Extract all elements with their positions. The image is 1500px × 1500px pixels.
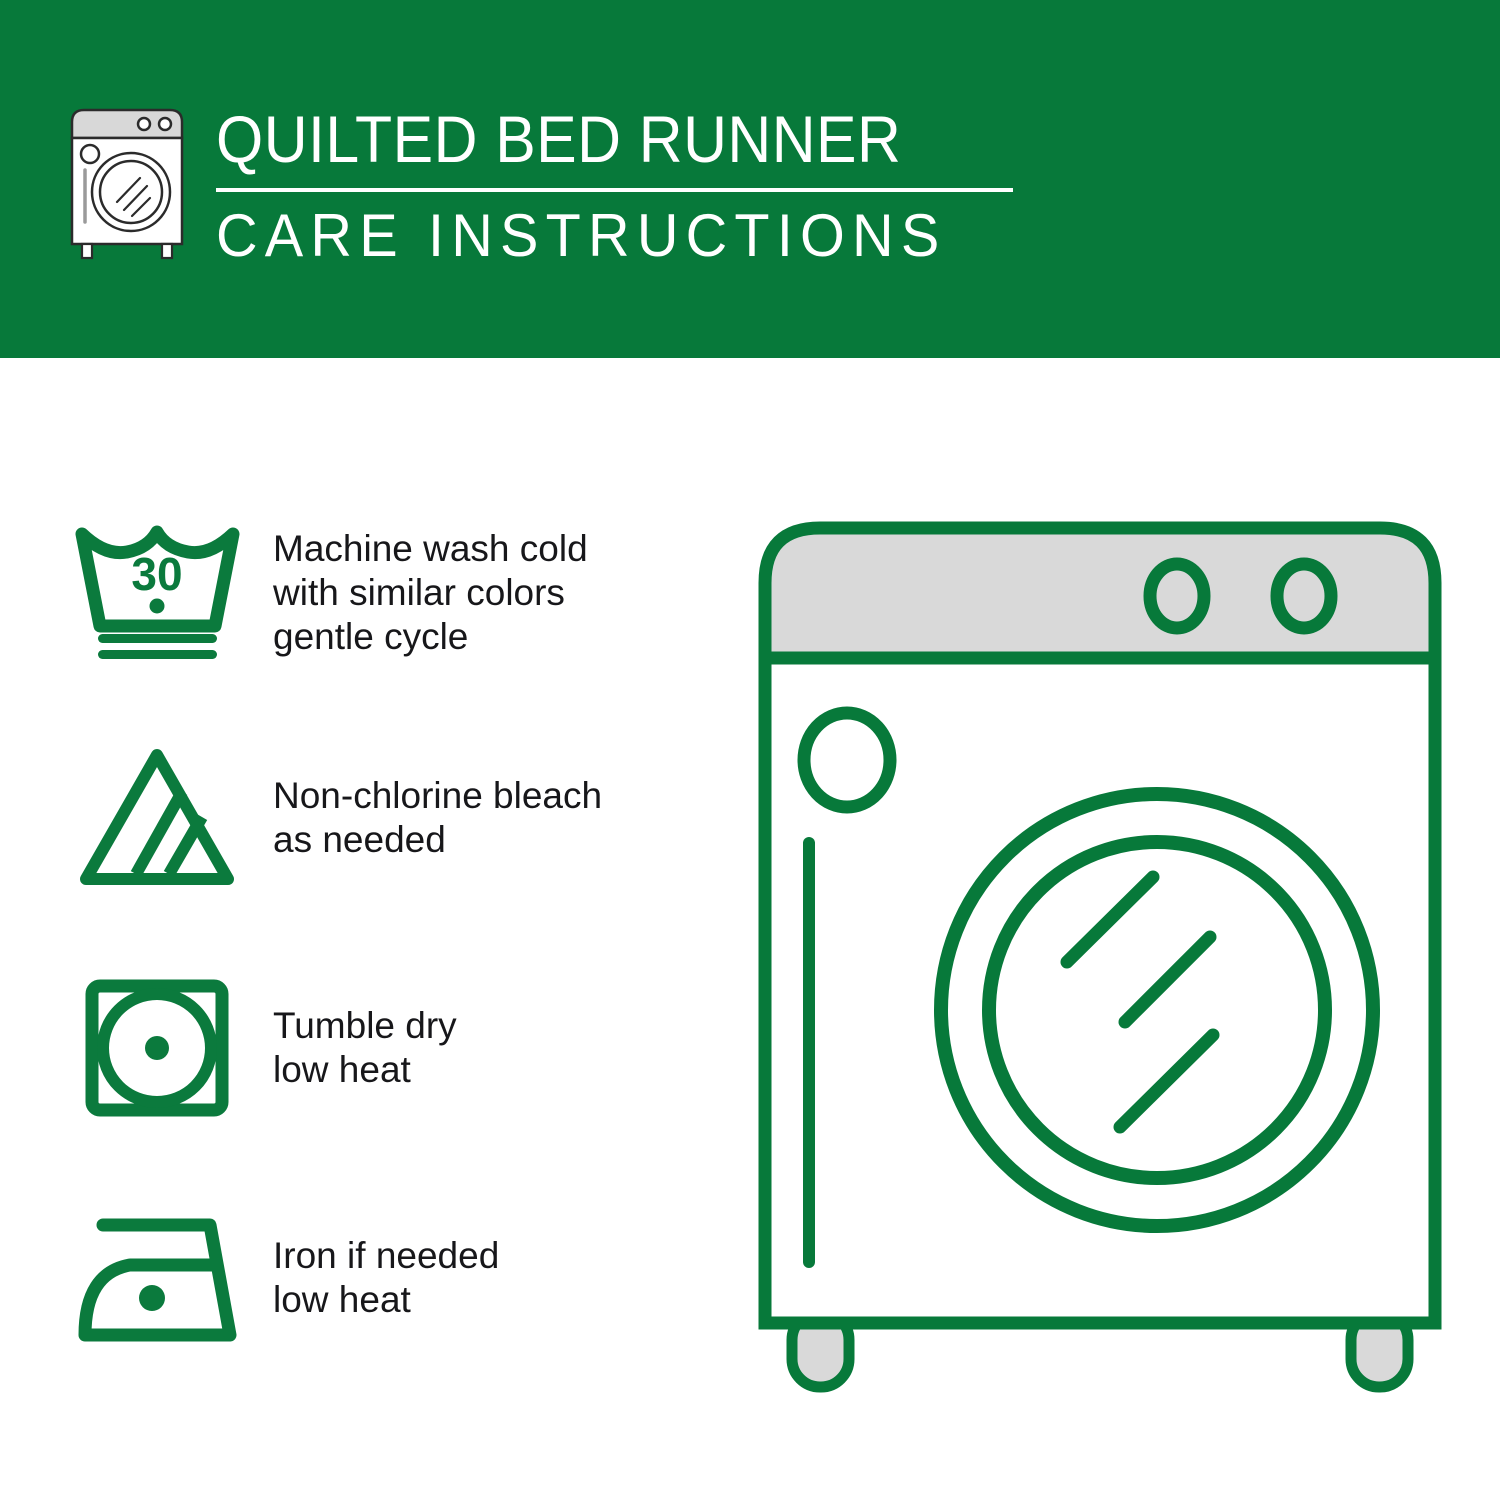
control-knob-left	[1150, 564, 1204, 628]
header-divider	[216, 188, 1013, 192]
care-row-tumble-dry: Tumble dry low heat	[0, 973, 700, 1123]
header-band: QUILTED BED RUNNER CARE INSTRUCTIONS	[0, 0, 1500, 358]
dispenser-circle	[804, 713, 890, 807]
care-label-machine-wash: Machine wash cold with similar colors ge…	[273, 527, 588, 659]
iron-low-heat-icon	[70, 1203, 245, 1353]
bleach-triangle-icon	[70, 743, 245, 893]
care-row-bleach: Non-chlorine bleach as needed	[0, 743, 700, 893]
care-instruction-list: 30 Machine wash cold with similar colors…	[0, 358, 700, 1500]
svg-text:30: 30	[131, 548, 182, 600]
front-load-washing-machine-illustration	[735, 490, 1465, 1420]
header-text-block: QUILTED BED RUNNER CARE INSTRUCTIONS	[216, 100, 1016, 272]
care-row-iron: Iron if needed low heat	[0, 1203, 700, 1353]
control-knob-right	[1277, 564, 1331, 628]
page-title: QUILTED BED RUNNER	[216, 100, 952, 178]
washing-machine-icon	[62, 104, 192, 262]
page-subtitle: CARE INSTRUCTIONS	[216, 200, 984, 272]
care-row-machine-wash: 30 Machine wash cold with similar colors…	[0, 518, 700, 668]
care-label-iron: Iron if needed low heat	[273, 1234, 499, 1322]
care-label-tumble-dry: Tumble dry low heat	[273, 1004, 457, 1092]
wash-tub-30-icon: 30	[70, 518, 245, 668]
tumble-dry-low-icon	[70, 973, 245, 1123]
care-label-bleach: Non-chlorine bleach as needed	[273, 774, 602, 862]
